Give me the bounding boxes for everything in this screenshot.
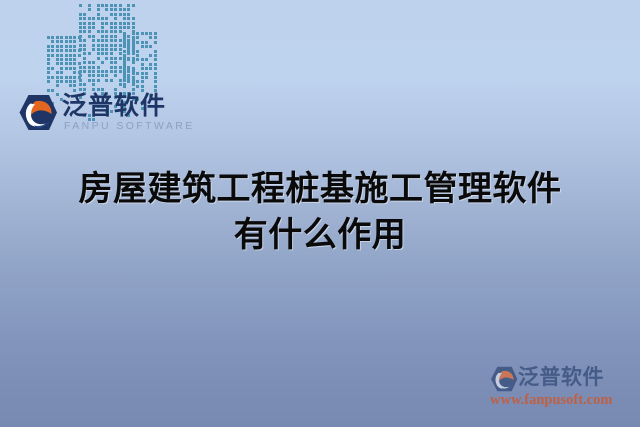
brand-name-en: FANPU SOFTWARE xyxy=(64,120,195,132)
pixel-block xyxy=(123,36,126,39)
pixel-block xyxy=(136,54,139,57)
pixel-block xyxy=(114,57,117,60)
watermark-url: www.fanpusoft.com xyxy=(490,392,612,409)
pixel-block xyxy=(88,30,91,33)
pixel-block xyxy=(83,30,86,33)
pixel-block xyxy=(127,8,130,11)
pixel-block xyxy=(73,67,76,70)
pixel-block xyxy=(92,48,95,51)
pixel-block xyxy=(73,49,76,52)
pixel-block xyxy=(101,22,104,25)
pixel-block xyxy=(123,76,126,79)
pixel-block xyxy=(79,22,82,25)
pixel-block xyxy=(101,61,104,64)
pixel-block xyxy=(154,32,157,35)
pixel-block xyxy=(123,45,126,48)
pixel-block xyxy=(73,58,76,61)
pixel-block xyxy=(123,58,126,61)
pixel-block xyxy=(141,76,144,79)
pixel-block xyxy=(119,52,122,55)
pixel-block xyxy=(92,39,95,42)
pixel-block xyxy=(141,32,144,35)
pixel-block xyxy=(79,35,82,38)
pixel-block xyxy=(136,32,139,35)
pixel-block xyxy=(114,30,117,33)
pixel-block xyxy=(132,17,135,20)
pixel-block xyxy=(101,70,104,73)
pixel-block xyxy=(83,83,86,86)
pixel-block xyxy=(119,79,122,82)
pixel-block xyxy=(105,35,108,38)
pixel-block xyxy=(119,39,122,42)
pixel-block xyxy=(73,54,76,57)
pixel-block xyxy=(123,32,126,35)
pixel-block xyxy=(114,61,117,64)
pixel-block xyxy=(132,45,135,48)
pixel-block xyxy=(127,45,130,48)
pixel-block xyxy=(65,80,68,83)
pixel-block xyxy=(127,4,130,7)
pixel-block xyxy=(114,22,117,25)
pixel-block xyxy=(123,26,126,29)
pixel-block xyxy=(114,48,117,51)
pixel-block xyxy=(110,66,113,69)
pixel-block xyxy=(79,4,82,7)
pixel-block xyxy=(101,44,104,47)
pixel-block xyxy=(132,83,135,86)
pixel-block xyxy=(123,8,126,11)
pixel-block xyxy=(69,36,72,39)
pixel-block xyxy=(127,76,130,79)
pixel-block xyxy=(145,72,148,75)
pixel-block xyxy=(132,4,135,7)
fanpu-hexagon-logo-icon xyxy=(18,94,58,131)
pixel-block xyxy=(119,48,122,51)
pixel-block xyxy=(69,76,72,79)
pixel-block xyxy=(123,72,126,75)
pixel-block xyxy=(114,70,117,73)
pixel-block xyxy=(79,83,82,86)
pixel-block xyxy=(149,32,152,35)
pixel-block xyxy=(127,13,130,16)
pixel-block xyxy=(114,39,117,42)
pixel-block xyxy=(47,45,50,48)
pixel-block xyxy=(110,22,113,25)
pixel-block xyxy=(101,17,104,20)
pixel-block xyxy=(47,54,50,57)
pixel-block xyxy=(110,4,113,7)
pixel-block xyxy=(101,52,104,55)
pixel-block xyxy=(47,76,50,79)
pixel-block xyxy=(83,22,86,25)
pixel-block xyxy=(123,22,126,25)
pixel-block xyxy=(141,80,144,83)
pixel-block xyxy=(83,61,86,64)
pixel-block xyxy=(105,39,108,42)
pixel-block xyxy=(132,52,135,55)
pixel-block xyxy=(56,36,59,39)
pixel-block xyxy=(114,74,117,77)
pixel-block xyxy=(123,79,126,82)
pixel-block xyxy=(73,80,76,83)
pixel-block xyxy=(149,36,152,39)
pixel-block xyxy=(69,45,72,48)
pixel-block xyxy=(51,76,54,79)
pixel-block xyxy=(127,41,130,44)
pixel-block xyxy=(132,80,135,83)
pixel-block xyxy=(123,17,126,20)
pixel-block xyxy=(88,26,91,29)
pixel-block xyxy=(127,35,130,38)
pixel-block xyxy=(92,44,95,47)
pixel-block xyxy=(83,70,86,73)
pixel-block xyxy=(79,17,82,20)
pixel-block xyxy=(88,4,91,7)
pixel-block xyxy=(79,13,82,16)
pixel-block xyxy=(83,13,86,16)
pixel-block xyxy=(145,76,148,79)
pixel-block xyxy=(119,57,122,60)
page-title: 房屋建筑工程桩基施工管理软件 有什么作用 xyxy=(0,166,640,258)
pixel-block xyxy=(154,50,157,53)
pixel-block xyxy=(101,39,104,42)
pixel-block xyxy=(73,71,76,74)
watermark-fanpu-hexagon-logo-icon xyxy=(490,366,518,392)
pixel-block xyxy=(60,49,63,52)
pixel-block xyxy=(119,66,122,69)
pixel-block xyxy=(92,79,95,82)
pixel-block xyxy=(97,48,100,51)
pixel-block xyxy=(136,58,139,61)
pixel-block xyxy=(51,45,54,48)
pixel-block xyxy=(83,52,86,55)
pixel-block xyxy=(79,26,82,29)
pixel-block xyxy=(92,66,95,69)
pixel-block xyxy=(110,39,113,42)
pixel-block xyxy=(97,74,100,77)
pixel-block xyxy=(132,72,135,75)
pixel-block xyxy=(88,74,91,77)
pixel-block xyxy=(69,40,72,43)
pixel-block xyxy=(56,58,59,61)
pixel-block xyxy=(73,40,76,43)
pixel-block xyxy=(92,61,95,64)
pixel-block xyxy=(97,8,100,11)
pixel-block xyxy=(97,66,100,69)
pixel-block xyxy=(83,17,86,20)
pixel-block xyxy=(132,22,135,25)
pixel-block xyxy=(92,35,95,38)
pixel-block xyxy=(141,41,144,44)
pixel-block xyxy=(83,66,86,69)
pixel-block xyxy=(47,62,50,65)
pixel-block xyxy=(88,70,91,73)
pixel-block xyxy=(154,58,157,61)
pixel-block xyxy=(97,57,100,60)
pixel-block xyxy=(114,8,117,11)
pixel-block xyxy=(97,13,100,16)
pixel-block xyxy=(88,79,91,82)
pixel-block xyxy=(65,62,68,65)
brand-logo: 泛普软件 FANPU SOFTWARE xyxy=(18,92,180,138)
watermark: 泛普软件 www.fanpusoft.com xyxy=(488,363,634,415)
pixel-block xyxy=(154,76,157,79)
pixel-block xyxy=(114,35,117,38)
pixel-block xyxy=(101,48,104,51)
pixel-city-icon xyxy=(47,0,139,86)
pixel-block xyxy=(132,32,135,35)
pixel-block xyxy=(51,36,54,39)
pixel-block xyxy=(65,58,68,61)
pixel-block xyxy=(56,49,59,52)
pixel-block xyxy=(110,30,113,33)
pixel-block xyxy=(154,36,157,39)
pixel-block xyxy=(88,17,91,20)
pixel-block xyxy=(145,32,148,35)
pixel-block xyxy=(145,45,148,48)
pixel-block xyxy=(101,4,104,7)
pixel-block xyxy=(69,67,72,70)
pixel-block xyxy=(88,22,91,25)
pixel-block xyxy=(127,26,130,29)
pixel-block xyxy=(136,80,139,83)
pixel-block xyxy=(47,71,50,74)
pixel-block xyxy=(92,22,95,25)
pixel-block xyxy=(65,49,68,52)
pixel-block xyxy=(56,45,59,48)
pixel-block xyxy=(114,26,117,29)
pixel-block xyxy=(110,61,113,64)
page-title-line-1: 房屋建筑工程桩基施工管理软件 xyxy=(0,166,640,212)
pixel-block xyxy=(60,36,63,39)
pixel-block xyxy=(60,71,63,74)
pixel-block xyxy=(154,80,157,83)
pixel-block xyxy=(105,30,108,33)
promo-banner: 泛普软件 FANPU SOFTWARE 房屋建筑工程桩基施工管理软件 有什么作用… xyxy=(0,0,640,427)
pixel-block xyxy=(79,79,82,82)
pixel-block xyxy=(141,85,144,88)
pixel-block xyxy=(65,36,68,39)
pixel-block xyxy=(56,62,59,65)
pixel-block xyxy=(110,70,113,73)
pixel-block xyxy=(88,52,91,55)
pixel-block xyxy=(154,41,157,44)
pixel-block xyxy=(105,57,108,60)
pixel-block xyxy=(105,48,108,51)
pixel-block xyxy=(51,40,54,43)
pixel-block xyxy=(123,67,126,70)
pixel-block xyxy=(97,30,100,33)
pixel-block xyxy=(154,85,157,88)
pixel-block xyxy=(119,83,122,86)
pixel-block xyxy=(132,41,135,44)
pixel-block xyxy=(105,4,108,7)
pixel-block xyxy=(65,45,68,48)
pixel-block xyxy=(149,45,152,48)
pixel-block xyxy=(79,39,82,42)
pixel-block xyxy=(56,71,59,74)
pixel-block xyxy=(105,22,108,25)
pixel-block xyxy=(119,26,122,29)
pixel-block xyxy=(110,8,113,11)
pixel-block xyxy=(83,26,86,29)
brand-name-cn: 泛普软件 xyxy=(62,92,166,120)
pixel-block xyxy=(73,84,76,87)
pixel-block xyxy=(136,41,139,44)
pixel-block xyxy=(51,54,54,57)
pixel-block xyxy=(110,79,113,82)
pixel-block xyxy=(136,36,139,39)
pixel-block xyxy=(97,52,100,55)
pixel-block xyxy=(154,67,157,70)
pixel-block xyxy=(141,58,144,61)
pixel-block xyxy=(149,67,152,70)
pixel-block xyxy=(97,70,100,73)
pixel-block xyxy=(114,44,117,47)
pixel-block xyxy=(88,35,91,38)
pixel-block xyxy=(127,67,130,70)
pixel-block xyxy=(119,13,122,16)
pixel-block xyxy=(88,61,91,64)
pixel-block xyxy=(123,54,126,57)
pixel-block xyxy=(101,30,104,33)
pixel-block xyxy=(47,58,50,61)
pixel-block xyxy=(92,83,95,86)
pixel-block xyxy=(101,35,104,38)
pixel-block xyxy=(60,62,63,65)
pixel-block xyxy=(56,76,59,79)
pixel-block xyxy=(88,66,91,69)
pixel-block xyxy=(56,84,59,87)
pixel-block xyxy=(79,44,82,47)
pixel-block xyxy=(97,79,100,82)
pixel-block xyxy=(101,26,104,29)
pixel-block xyxy=(56,40,59,43)
pixel-block xyxy=(92,70,95,73)
pixel-block xyxy=(127,50,130,53)
pixel-block xyxy=(83,48,86,51)
pixel-block xyxy=(92,17,95,20)
pixel-block xyxy=(56,54,59,57)
pixel-block xyxy=(110,44,113,47)
pixel-block xyxy=(123,85,126,88)
pixel-block xyxy=(60,45,63,48)
watermark-brand-name: 泛普软件 xyxy=(518,364,604,390)
pixel-block xyxy=(92,26,95,29)
pixel-block xyxy=(141,67,144,70)
pixel-block xyxy=(132,76,135,79)
pixel-block xyxy=(47,36,50,39)
pixel-block xyxy=(69,54,72,57)
pixel-block xyxy=(110,48,113,51)
pixel-block xyxy=(141,45,144,48)
pixel-block xyxy=(132,36,135,39)
pixel-block xyxy=(56,80,59,83)
pixel-block xyxy=(60,58,63,61)
pixel-block xyxy=(127,17,130,20)
pixel-block xyxy=(79,66,82,69)
pixel-block xyxy=(123,13,126,16)
pixel-block xyxy=(65,40,68,43)
pixel-block xyxy=(110,52,113,55)
pixel-block xyxy=(51,67,54,70)
pixel-block xyxy=(114,17,117,20)
pixel-block xyxy=(119,70,122,73)
pixel-block xyxy=(141,63,144,66)
pixel-block xyxy=(123,41,126,44)
pixel-block xyxy=(105,17,108,20)
pixel-block xyxy=(105,52,108,55)
pixel-block xyxy=(69,62,72,65)
pixel-block xyxy=(73,45,76,48)
pixel-block xyxy=(69,49,72,52)
pixel-block xyxy=(60,54,63,57)
pixel-block xyxy=(123,63,126,66)
pixel-block xyxy=(145,67,148,70)
pixel-block xyxy=(69,58,72,61)
pixel-block xyxy=(110,57,113,60)
pixel-block xyxy=(114,13,117,16)
pixel-block xyxy=(145,58,148,61)
pixel-block xyxy=(149,63,152,66)
pixel-block xyxy=(114,66,117,69)
pixel-block xyxy=(60,76,63,79)
pixel-block xyxy=(101,74,104,77)
pixel-block xyxy=(60,67,63,70)
pixel-block xyxy=(114,4,117,7)
pixel-block xyxy=(136,72,139,75)
pixel-block xyxy=(69,80,72,83)
pixel-block xyxy=(79,70,82,73)
pixel-block xyxy=(132,67,135,70)
pixel-block xyxy=(88,8,91,11)
pixel-block xyxy=(97,44,100,47)
pixel-block xyxy=(79,48,82,51)
pixel-block xyxy=(110,35,113,38)
pixel-block xyxy=(69,84,72,87)
pixel-block xyxy=(73,36,76,39)
pixel-block xyxy=(119,44,122,47)
pixel-block xyxy=(149,54,152,57)
pixel-block xyxy=(127,80,130,83)
pixel-block xyxy=(65,67,68,70)
pixel-block xyxy=(132,26,135,29)
pixel-block xyxy=(105,70,108,73)
pixel-block xyxy=(127,70,130,73)
pixel-block xyxy=(136,85,139,88)
pixel-block xyxy=(136,50,139,53)
pixel-block xyxy=(97,4,100,7)
pixel-block xyxy=(127,58,130,61)
pixel-block xyxy=(97,39,100,42)
pixel-block xyxy=(73,76,76,79)
pixel-block xyxy=(154,54,157,57)
pixel-block xyxy=(65,54,68,57)
pixel-block xyxy=(97,17,100,20)
pixel-block xyxy=(105,79,108,82)
pixel-block xyxy=(141,72,144,75)
pixel-block xyxy=(73,62,76,65)
pixel-block xyxy=(47,80,50,83)
pixel-block xyxy=(79,74,82,77)
pixel-block xyxy=(119,8,122,11)
pixel-block xyxy=(47,49,50,52)
pixel-block xyxy=(154,63,157,66)
pixel-block xyxy=(65,76,68,79)
pixel-block xyxy=(60,80,63,83)
pixel-block xyxy=(92,74,95,77)
pixel-block xyxy=(123,50,126,53)
